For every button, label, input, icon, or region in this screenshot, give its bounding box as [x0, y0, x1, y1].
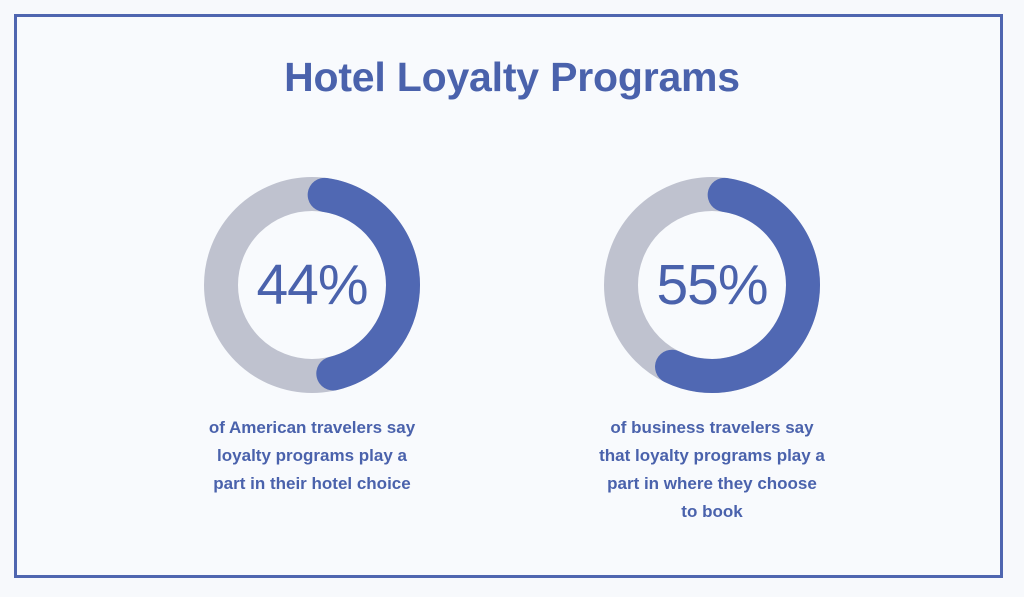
donut-chart-55: 55%	[599, 172, 825, 398]
infographic-canvas: Hotel Loyalty Programs 44% of American t…	[0, 0, 1024, 597]
page-title: Hotel Loyalty Programs	[0, 55, 1024, 100]
donut-value-55: 55%	[599, 172, 825, 398]
stat-block-american-travelers: 44% of American travelers say loyalty pr…	[112, 172, 512, 498]
donut-chart-44: 44%	[199, 172, 425, 398]
donut-caption-55: of business travelers say that loyalty p…	[598, 414, 826, 526]
donut-value-44: 44%	[199, 172, 425, 398]
donut-caption-44: of American travelers say loyalty progra…	[207, 414, 417, 498]
stats-row: 44% of American travelers say loyalty pr…	[17, 172, 1007, 526]
stat-block-business-travelers: 55% of business travelers say that loyal…	[512, 172, 912, 526]
